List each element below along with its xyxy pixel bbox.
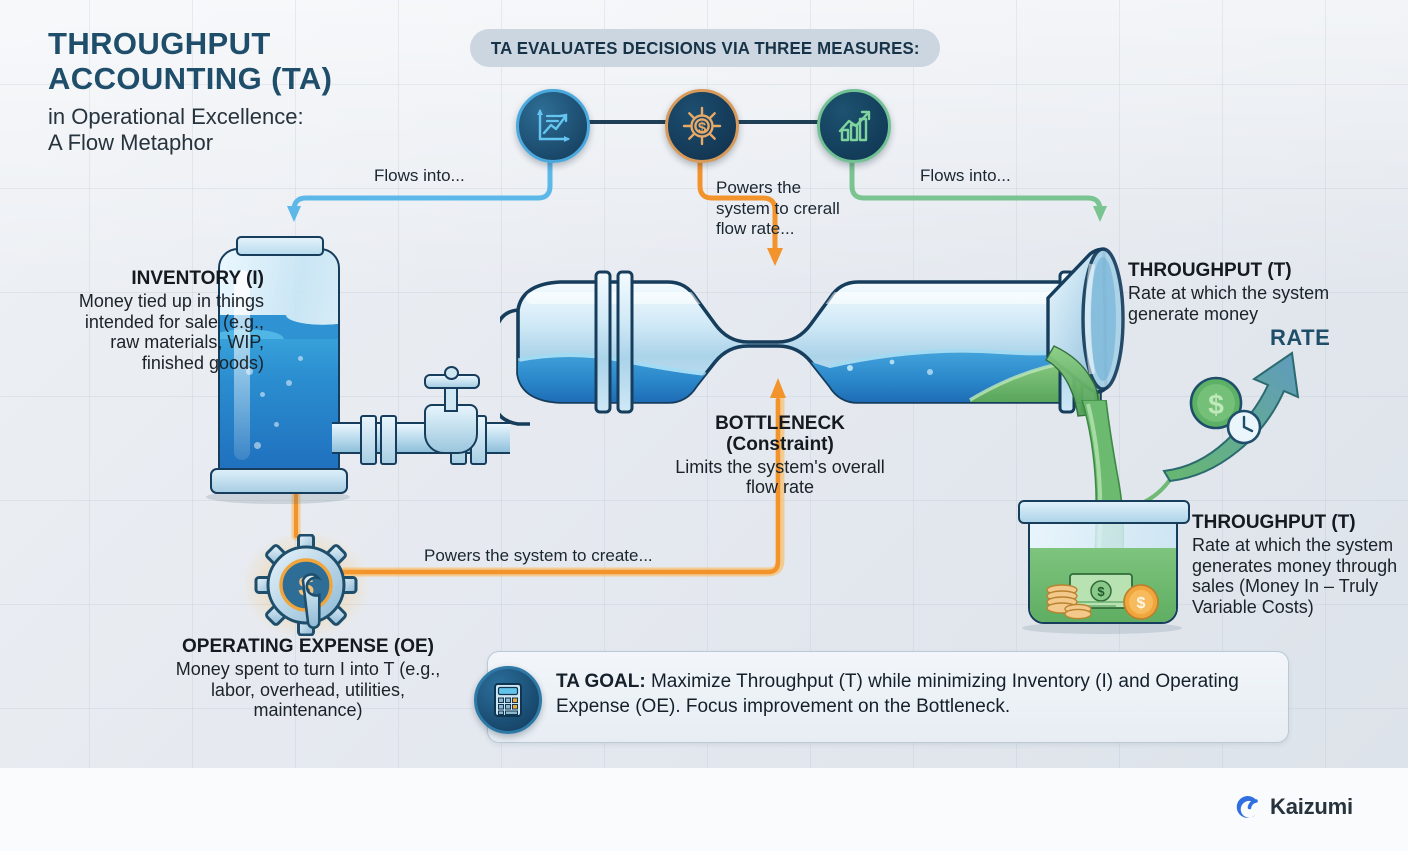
rate-label: RATE	[1270, 325, 1330, 351]
throughput-bottom-label: THROUGHPUT (T) Rate at which the system …	[1192, 512, 1408, 617]
oe-powers-top-l1: Powers the	[716, 178, 846, 199]
gear-dollar-wrench-icon[interactable]: $	[254, 534, 358, 636]
ta-goal-body: Maximize Throughput (T) while minimizing…	[556, 671, 1239, 717]
growth-chart-glyph	[834, 106, 874, 146]
measures-banner: TA EVALUATES DECISIONS VIA THREE MEASURE…	[470, 29, 940, 67]
bucket-rim	[1018, 500, 1190, 524]
money-bucket: $ $	[1018, 500, 1186, 628]
flow-label-inventory: Flows into...	[374, 166, 465, 186]
valve-knob	[444, 366, 459, 380]
measures-banner-label: TA EVALUATES DECISIONS VIA THREE MEASURE…	[491, 38, 920, 59]
bubble	[274, 422, 279, 427]
oe-powers-top-l3: flow rate...	[716, 219, 846, 240]
title-line-2: ACCOUNTING (TA)	[48, 61, 332, 96]
inventory-heading: INVENTORY (I)	[52, 268, 264, 290]
oe-powers-top-l2: system to crerall	[716, 199, 846, 220]
bucket-body: $ $	[1028, 516, 1178, 624]
logo-text: Kaizumi	[1270, 794, 1353, 820]
subtitle-line-1: in Operational Excellence:	[48, 104, 468, 131]
oe-body: Money spent to turn I into T (e.g., labo…	[160, 659, 456, 721]
flow-label-oe-powers-top: Powers the system to crerall flow rate..…	[716, 178, 846, 240]
bottleneck-body: Limits the system's overall flow rate	[664, 457, 896, 498]
throughput-top-body: Rate at which the system generate money	[1128, 283, 1348, 324]
kaizumi-swirl-icon	[1232, 792, 1262, 822]
tank-lid	[236, 236, 324, 256]
calculator-icon	[474, 666, 542, 734]
bottleneck-heading-1: BOTTLENECK	[664, 414, 896, 435]
ta-goal-text: TA GOAL: Maximize Throughput (T) while m…	[556, 670, 1271, 719]
page-title: THROUGHPUT ACCOUNTING (TA) in Operationa…	[48, 26, 468, 157]
throughput-top-label: THROUGHPUT (T) Rate at which the system …	[1128, 260, 1348, 324]
throughput-top-heading: THROUGHPUT (T)	[1128, 260, 1348, 282]
measure-connector-2	[727, 120, 822, 124]
ta-goal-prefix: TA GOAL:	[556, 671, 646, 692]
bubble	[286, 380, 292, 386]
inventory-chart-glyph	[533, 106, 573, 146]
pipe-flange	[380, 415, 397, 465]
title-line-1: THROUGHPUT	[48, 26, 271, 61]
tank-base	[210, 468, 348, 494]
gear-dollar-glyph: $	[681, 105, 723, 147]
rate-growth-arrow: $	[1160, 345, 1310, 485]
logo: Kaizumi	[1232, 792, 1353, 822]
pipe-flange	[360, 415, 377, 465]
svg-text:$: $	[698, 120, 707, 137]
outlet-pipe	[332, 422, 510, 454]
footer-bar	[0, 768, 1408, 851]
flow-label-oe-powers-bottom: Powers the system to create...	[424, 546, 653, 566]
inventory-chart-icon[interactable]	[516, 89, 590, 163]
bubble	[254, 442, 261, 449]
bubble	[260, 392, 265, 397]
bubble	[298, 356, 303, 361]
banknote-icon: $	[1070, 574, 1132, 608]
ta-goal-box: TA GOAL: Maximize Throughput (T) while m…	[487, 651, 1289, 743]
inventory-body: Money tied up in things intended for sal…	[52, 291, 264, 373]
dollar-coin-icon: $	[1124, 585, 1158, 619]
inventory-label: INVENTORY (I) Money tied up in things in…	[52, 268, 264, 373]
throughput-bottom-body: Rate at which the system generates money…	[1192, 535, 1408, 617]
growth-chart-icon[interactable]	[817, 89, 891, 163]
gear-dollar-icon[interactable]: $	[665, 89, 739, 163]
svg-text:$: $	[1097, 584, 1105, 599]
bottleneck-label: BOTTLENECK (Constraint) Limits the syste…	[664, 414, 896, 498]
calculator-glyph	[493, 682, 523, 718]
operating-expense-label: OPERATING EXPENSE (OE) Money spent to tu…	[160, 636, 456, 721]
subtitle-line-2: A Flow Metaphor	[48, 130, 468, 157]
flow-label-throughput: Flows into...	[920, 166, 1011, 186]
throughput-bottom-heading: THROUGHPUT (T)	[1192, 512, 1408, 534]
svg-text:$: $	[1208, 389, 1224, 420]
clock-icon	[1228, 411, 1260, 443]
svg-text:$: $	[1137, 595, 1146, 612]
measure-connector-1	[578, 120, 670, 124]
bucket-money-contents: $ $	[1042, 568, 1166, 624]
oe-heading: OPERATING EXPENSE (OE)	[160, 636, 456, 658]
infographic-canvas: THROUGHPUT ACCOUNTING (TA) in Operationa…	[0, 0, 1408, 851]
bottleneck-heading-2: (Constraint)	[664, 435, 896, 456]
